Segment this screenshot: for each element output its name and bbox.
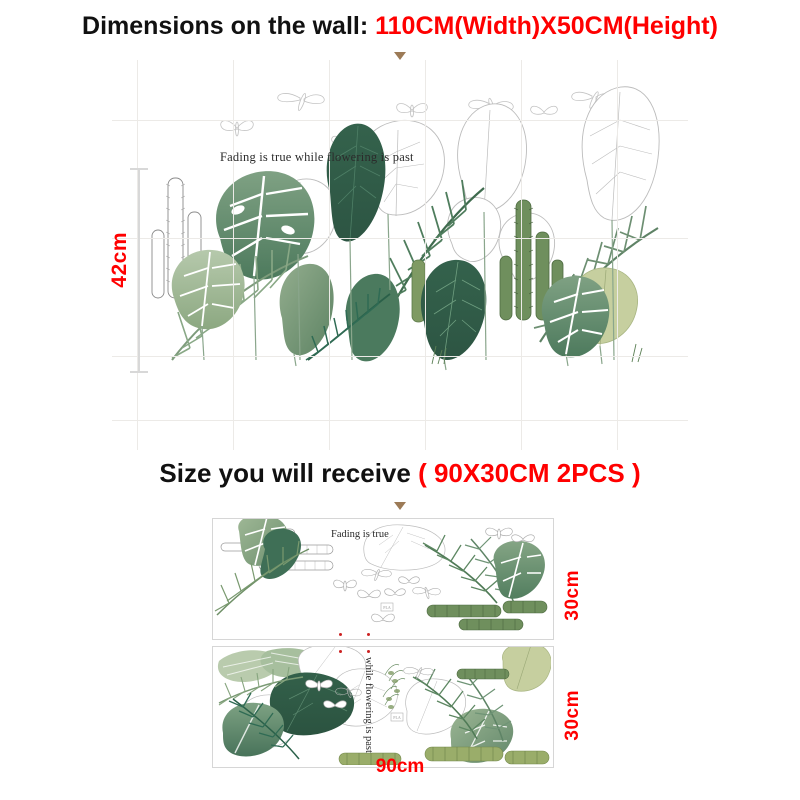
page-title-size-received: Size you will receive ( 90X30CM 2PCS ): [0, 458, 800, 489]
triangle-marker-icon-2: [394, 502, 406, 510]
sticker-sheet-2: PLA while flowering is past: [212, 646, 554, 768]
height-measure-label: 42cm: [108, 232, 132, 288]
product-infographic: Dimensions on the wall: 110CM(Width)X50C…: [0, 0, 800, 800]
sheet-2-slogan: while flowering is past: [363, 657, 374, 753]
sheet-1-height-label: 30cm: [562, 570, 584, 621]
svg-text:PLA: PLA: [383, 605, 391, 610]
sheet-width-label: 90cm: [0, 756, 800, 778]
svg-text:PLA: PLA: [393, 715, 401, 720]
registration-dot: [339, 633, 342, 636]
wall-dimensions-value: 110CM(Width)X50CM(Height): [375, 12, 718, 40]
registration-dot: [367, 650, 370, 653]
sheet-2-artwork: PLA: [213, 647, 551, 765]
sticker-sheet-1: PLA Fading is true: [212, 518, 554, 640]
size-received-label: Size you will receive: [159, 458, 410, 488]
registration-dot: [339, 650, 342, 653]
sticker-sheets-group: PLA Fading is true: [212, 518, 552, 768]
wall-mockup-illustration: Fading is true while flowering is past: [112, 60, 688, 450]
wall-dimensions-label: Dimensions on the wall:: [82, 12, 368, 40]
triangle-marker-icon: [394, 52, 406, 60]
sheet-2-height-label: 30cm: [562, 690, 584, 741]
page-title-wall-dimensions: Dimensions on the wall: 110CM(Width)X50C…: [0, 12, 800, 41]
registration-dot: [367, 633, 370, 636]
size-received-value: ( 90X30CM 2PCS ): [418, 458, 641, 488]
sheet-1-slogan: Fading is true: [331, 529, 389, 540]
wall-decal-slogan: Fading is true while flowering is past: [220, 150, 414, 165]
wall-tile-grid: [112, 60, 688, 450]
